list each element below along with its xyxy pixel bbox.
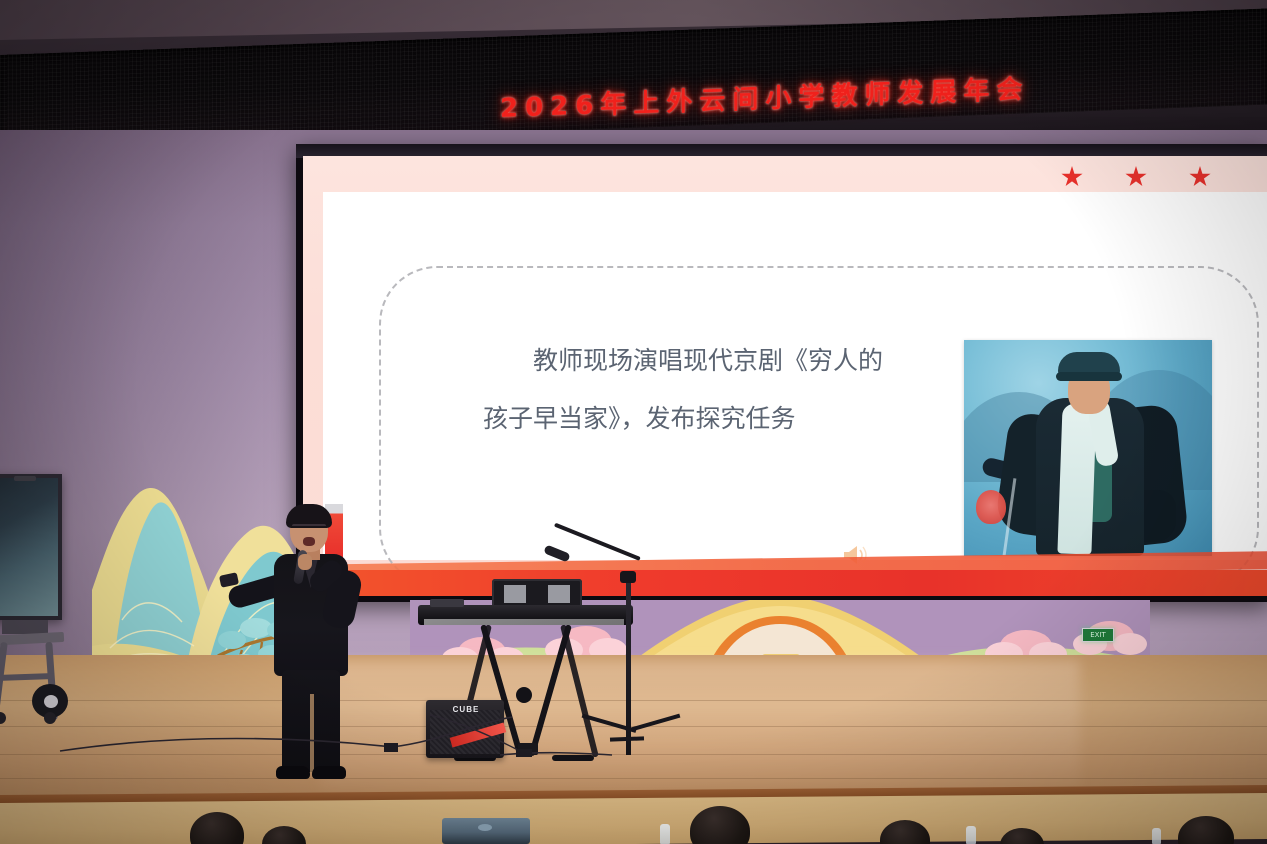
star-icon — [1189, 166, 1211, 188]
glasses-icon — [292, 524, 326, 533]
presenter-hand — [298, 554, 312, 570]
slide-body-line-2: 孩子早当家》，发布探究任务 — [483, 390, 953, 448]
presenter-mouth — [303, 537, 315, 546]
keyboard-control-panel — [430, 599, 464, 607]
star-icon — [1061, 166, 1083, 188]
slide-stars-decoration — [1047, 160, 1267, 194]
water-bottle — [660, 824, 670, 844]
stage-monitor-box — [442, 818, 530, 844]
slide-body-line-1: 教师现场演唱现代京剧《穷人的 — [483, 332, 953, 390]
red-lantern-prop — [976, 490, 1006, 524]
exit-sign: EXIT — [1082, 628, 1114, 642]
water-bottle — [966, 826, 976, 844]
display-mount-neck — [2, 620, 48, 634]
display-stand-shelf — [0, 632, 64, 646]
presentation-slide: 教师现场演唱现代京剧《穷人的 孩子早当家》，发布探究任务 — [303, 156, 1267, 596]
auditorium-stage-photo: 2026年上外云间小学教师发展年会 教师现场演唱现代京剧《穷人的 孩子早当家》，… — [0, 0, 1267, 844]
display-screen — [0, 474, 62, 620]
mic-stand-clamp — [620, 571, 636, 583]
stage-cables — [0, 655, 1267, 800]
performer-cap-brim — [1056, 372, 1122, 381]
display-camera-bar — [14, 476, 36, 481]
stage-monitor-indicator — [478, 824, 492, 831]
stand-microphone — [543, 544, 570, 562]
slide-content-area: 教师现场演唱现代京剧《穷人的 孩子早当家》，发布探究任务 — [323, 192, 1267, 560]
slide-body-text: 教师现场演唱现代京剧《穷人的 孩子早当家》，发布探究任务 — [483, 332, 953, 448]
star-icon — [1125, 166, 1147, 188]
music-sheet — [504, 585, 526, 603]
peking-opera-performer-photo — [964, 340, 1212, 556]
water-bottle — [1152, 828, 1161, 844]
